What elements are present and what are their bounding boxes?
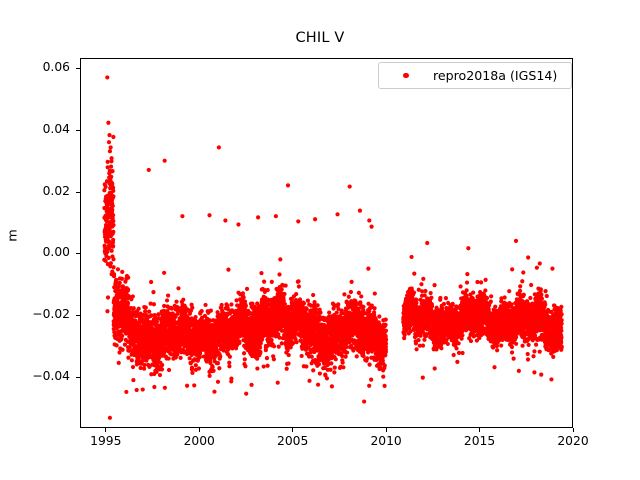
- y-tick-mark: [76, 315, 80, 316]
- legend-dot-icon: [403, 73, 409, 79]
- y-axis-tick-labels: 0.060.040.020.00−0.02−0.04: [18, 0, 70, 480]
- x-tick-mark: [105, 428, 106, 432]
- y-tick-mark: [76, 192, 80, 193]
- x-tick-label: 2005: [258, 434, 328, 448]
- y-tick-mark: [76, 377, 80, 378]
- legend[interactable]: repro2018a (IGS14): [378, 62, 572, 89]
- x-tick-mark: [573, 428, 574, 432]
- x-tick-label: 2015: [445, 434, 515, 448]
- y-axis-label: m: [6, 216, 21, 256]
- y-tick-mark: [76, 253, 80, 254]
- y-tick-mark: [76, 68, 80, 69]
- y-tick-label: 0.00: [24, 245, 70, 259]
- x-tick-mark: [199, 428, 200, 432]
- legend-entry[interactable]: repro2018a (IGS14): [379, 63, 571, 88]
- y-tick-label: 0.06: [24, 60, 70, 74]
- y-tick-mark: [76, 130, 80, 131]
- x-tick-mark: [479, 428, 480, 432]
- x-tick-label: 1995: [71, 434, 141, 448]
- page-title: CHIL V: [0, 30, 640, 46]
- x-tick-mark: [292, 428, 293, 432]
- x-tick-label: 2020: [538, 434, 608, 448]
- y-tick-label: −0.02: [24, 307, 70, 321]
- axes-frame: [80, 58, 573, 428]
- x-tick-label: 2000: [164, 434, 234, 448]
- legend-marker-slot: [379, 73, 433, 79]
- y-tick-label: 0.04: [24, 122, 70, 136]
- x-tick-mark: [386, 428, 387, 432]
- figure-canvas: CHIL V 0.060.040.020.00−0.02−0.04 199520…: [0, 0, 640, 480]
- y-tick-label: 0.02: [24, 184, 70, 198]
- legend-item-label: repro2018a (IGS14): [433, 68, 557, 83]
- y-tick-label: −0.04: [24, 369, 70, 383]
- x-tick-label: 2010: [351, 434, 421, 448]
